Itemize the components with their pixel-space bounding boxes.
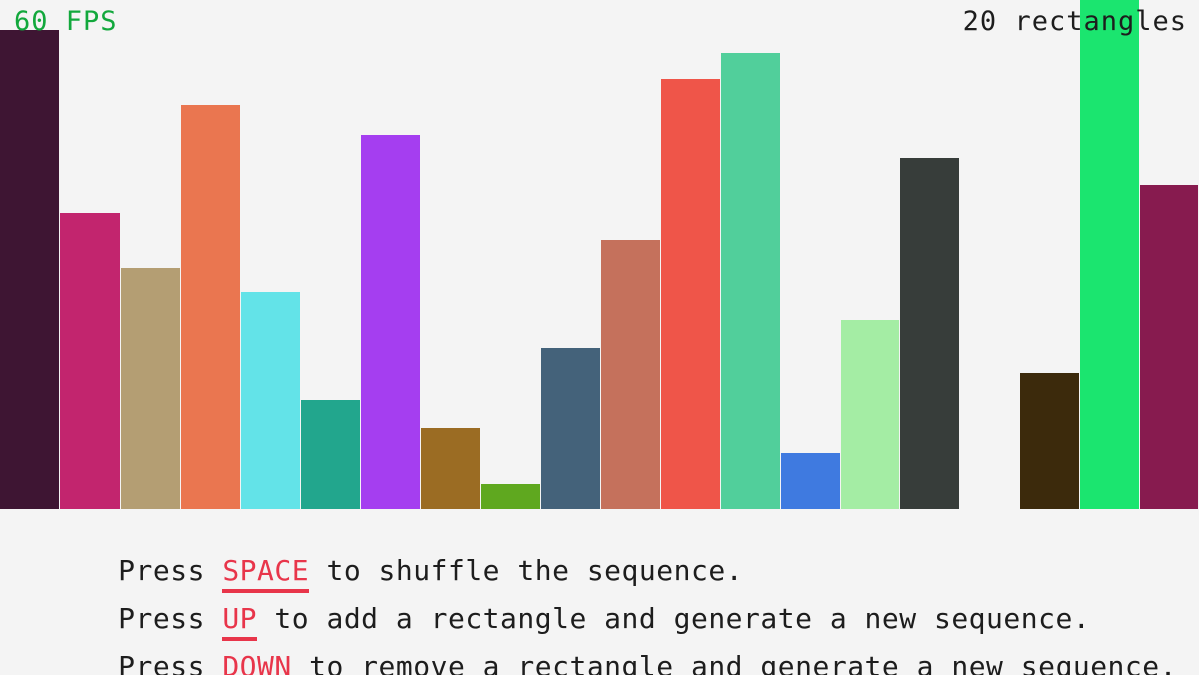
bar-rectangle (841, 320, 899, 509)
bar-rectangle (361, 135, 420, 509)
instruction-prefix: Press (118, 650, 222, 675)
bar-rectangle (60, 213, 120, 509)
bar-rectangle (421, 428, 480, 509)
bar-rectangle (721, 53, 780, 509)
bar-rectangle (241, 292, 300, 509)
bar-rectangle (0, 30, 59, 509)
rectangle-visualizer-app: 60 FPS 20 rectangles Press SPACE to shuf… (0, 0, 1199, 675)
bar-rectangle (781, 453, 840, 509)
bar-chart (0, 0, 1199, 509)
rectangle-count-label: 20 rectangles (963, 8, 1187, 35)
bar-rectangle (1080, 0, 1139, 509)
bar-rectangle (121, 268, 180, 509)
fps-counter: 60 FPS (14, 8, 118, 35)
instruction-suffix: to remove a rectangle and generate a new… (292, 650, 1177, 675)
bar-rectangle (181, 105, 240, 509)
key-down[interactable]: DOWN (222, 650, 291, 675)
instructions-panel: Press SPACE to shuffle the sequence. Pre… (0, 509, 1199, 675)
bar-rectangle (661, 79, 720, 509)
bar-rectangle (1020, 373, 1079, 509)
instruction-line-remove: Press DOWN to remove a rectangle and gen… (14, 625, 1177, 675)
bar-rectangle (301, 400, 360, 509)
bar-rectangle (900, 158, 959, 509)
bar-rectangle (601, 240, 660, 509)
bar-rectangle (1140, 185, 1198, 509)
bar-rectangle (481, 484, 540, 509)
bar-rectangle (541, 348, 600, 509)
